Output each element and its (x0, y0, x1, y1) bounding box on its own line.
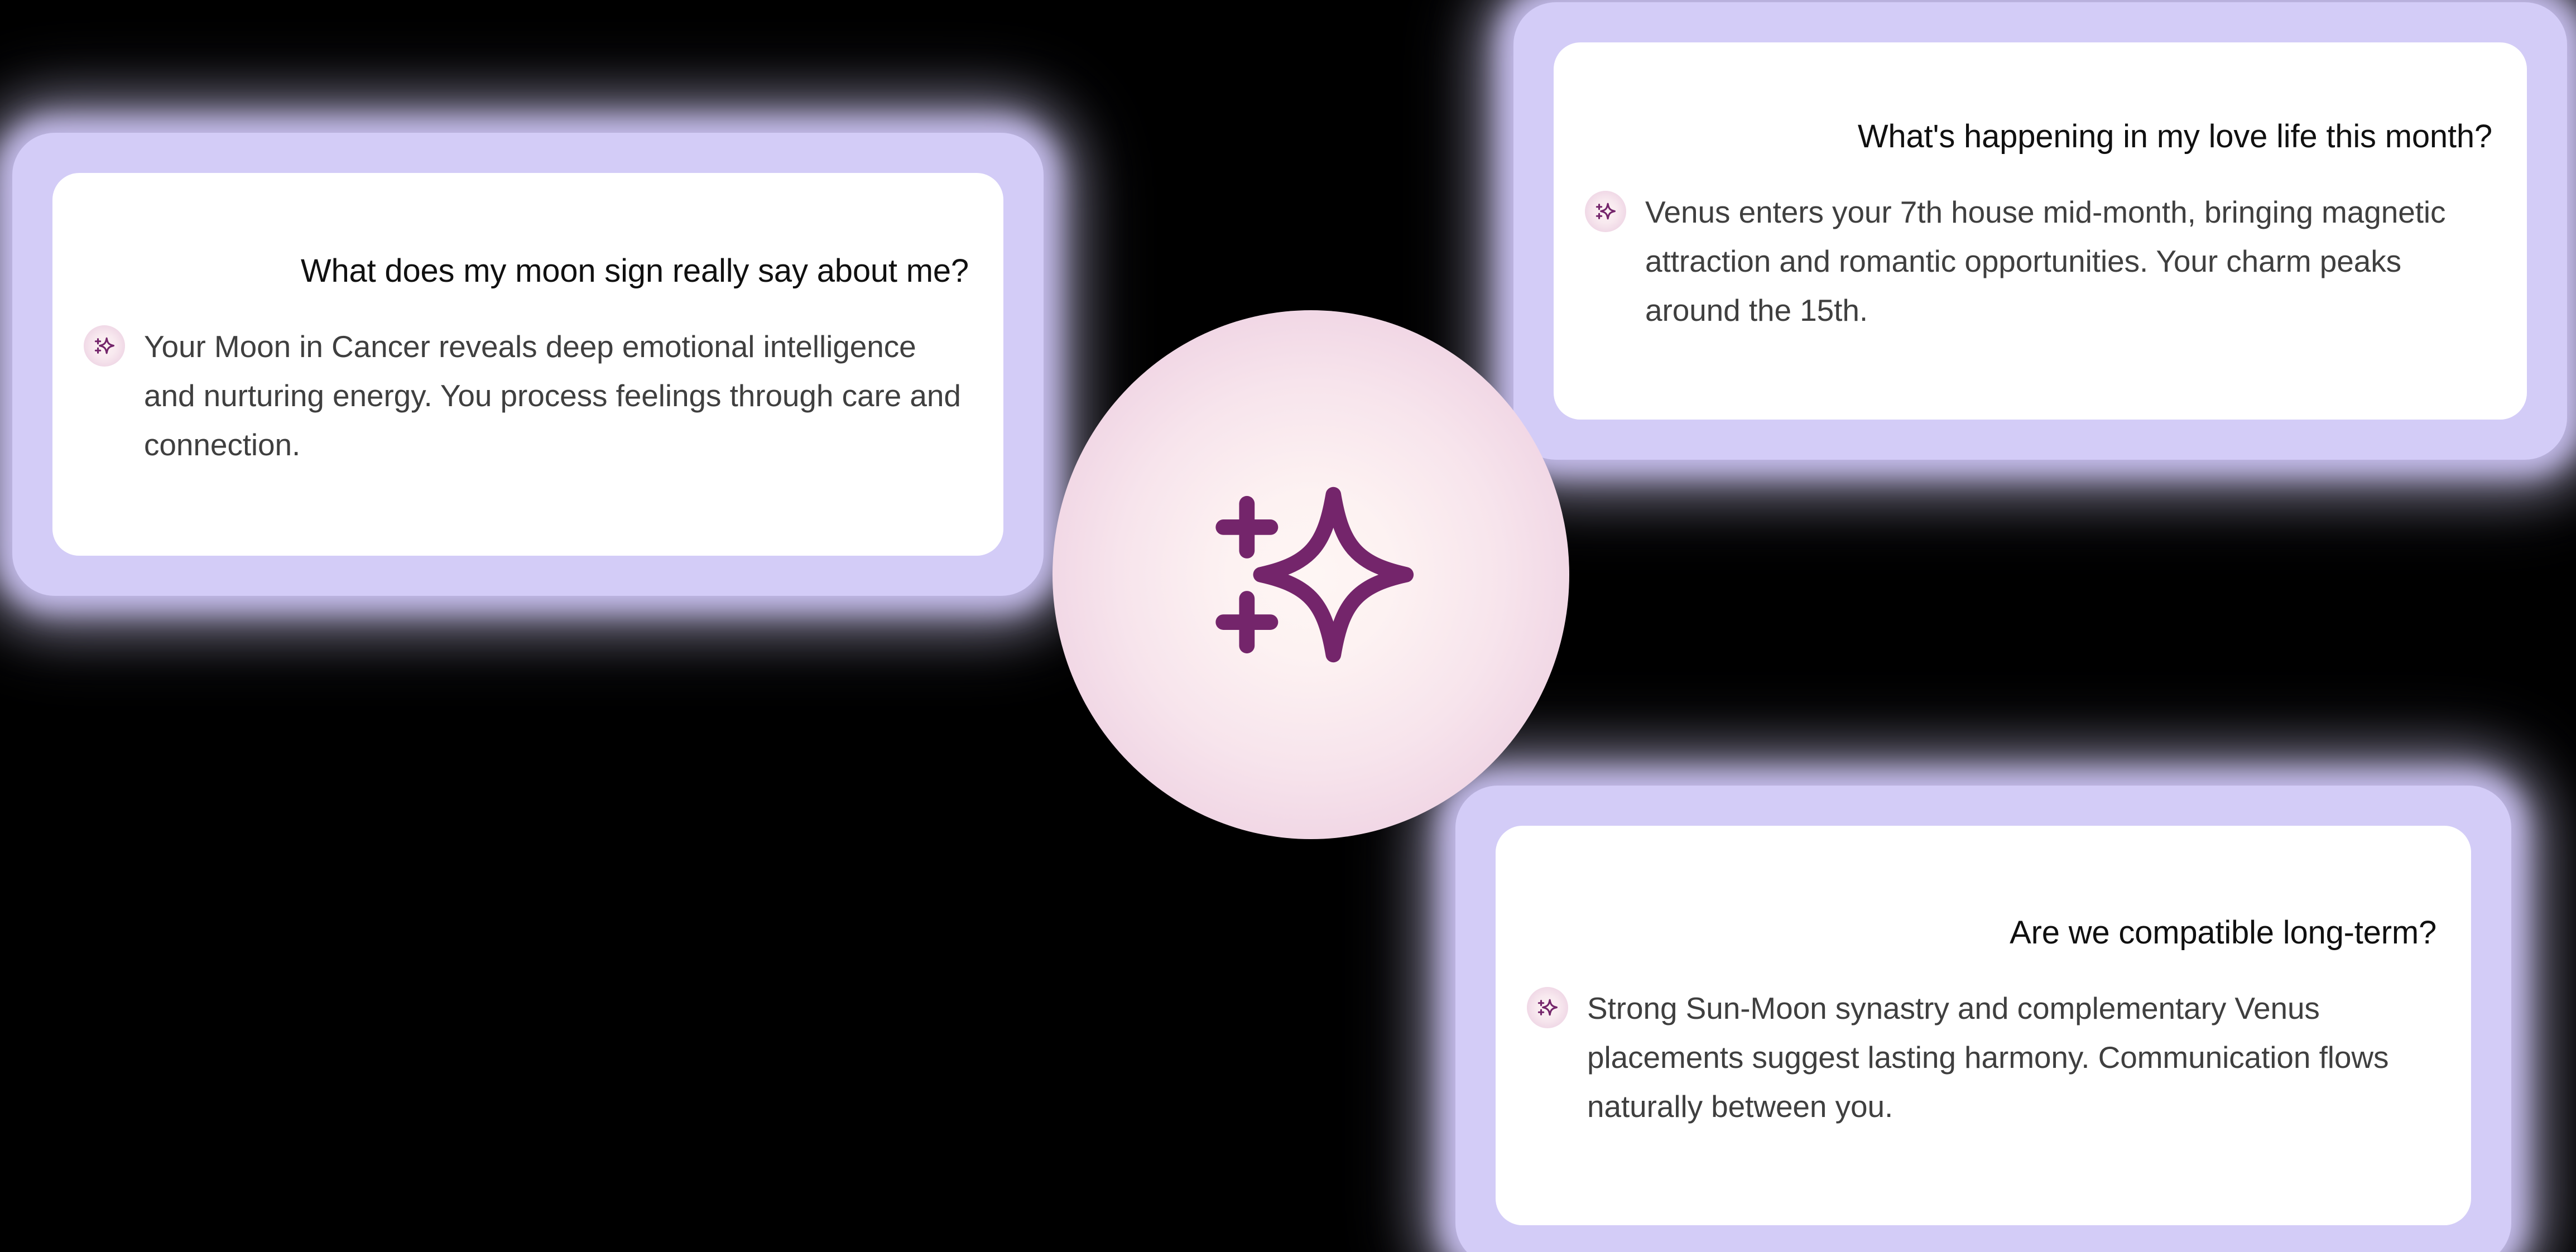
sparkle-star-icon (1191, 455, 1431, 695)
qa-card-surface: Are we compatible long-term? Strong Sun-… (1496, 826, 2471, 1225)
qa-card-surface: What's happening in my love life this mo… (1554, 42, 2527, 420)
answer-row: Strong Sun-Moon synastry and complementa… (1527, 984, 2440, 1131)
center-sparkle-orb (1052, 310, 1569, 839)
question-text: What's happening in my love life this mo… (1585, 117, 2496, 157)
canvas: What does my moon sign really say about … (0, 0, 2576, 1252)
answer-text: Venus enters your 7th house mid-month, b… (1645, 187, 2496, 335)
answer-text: Your Moon in Cancer reveals deep emotion… (144, 322, 972, 469)
sparkle-star-icon (1585, 191, 1626, 232)
qa-card-moon-sign[interactable]: What does my moon sign really say about … (12, 133, 1044, 596)
qa-card-compatibility[interactable]: Are we compatible long-term? Strong Sun-… (1455, 786, 2511, 1252)
qa-card-surface: What does my moon sign really say about … (52, 173, 1003, 556)
sparkle-star-icon (84, 325, 125, 367)
qa-card-love-life[interactable]: What's happening in my love life this mo… (1513, 2, 2567, 460)
question-text: What does my moon sign really say about … (84, 252, 972, 291)
question-text: Are we compatible long-term? (1527, 913, 2440, 953)
answer-text: Strong Sun-Moon synastry and complementa… (1587, 984, 2440, 1131)
sparkle-star-icon (1527, 987, 1568, 1028)
answer-row: Your Moon in Cancer reveals deep emotion… (84, 322, 972, 469)
answer-row: Venus enters your 7th house mid-month, b… (1585, 187, 2496, 335)
